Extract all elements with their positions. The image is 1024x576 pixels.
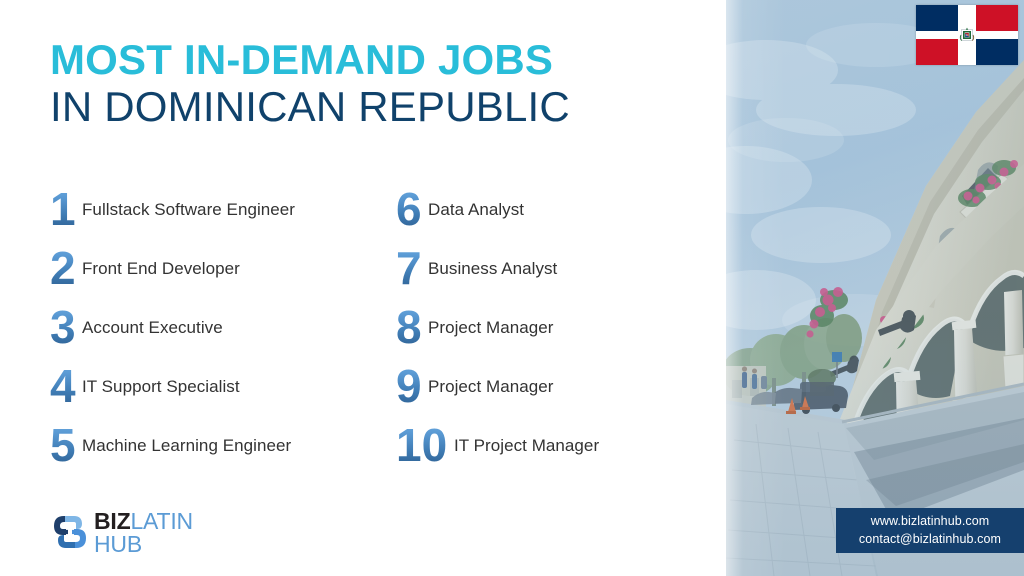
job-label: Data Analyst	[428, 200, 524, 220]
logo-wordmark: BIZLATIN HUB	[94, 510, 193, 557]
jobs-list-left: 1 Fullstack Software Engineer 2 Front En…	[50, 180, 380, 475]
job-label: Front End Developer	[82, 259, 240, 279]
list-item: 10 IT Project Manager	[396, 416, 726, 475]
job-label: Project Manager	[428, 318, 553, 338]
title-line-1: MOST IN-DEMAND JOBS	[50, 38, 690, 82]
rank-number: 9	[396, 363, 422, 409]
rank-number: 10	[396, 422, 448, 468]
logo-mark-icon	[50, 512, 90, 552]
list-item: 1 Fullstack Software Engineer	[50, 180, 380, 239]
list-item: 4 IT Support Specialist	[50, 357, 380, 416]
list-item: 8 Project Manager	[396, 298, 726, 357]
job-label: Business Analyst	[428, 259, 557, 279]
logo-row-top: BIZLATIN	[94, 510, 193, 533]
job-label: Fullstack Software Engineer	[82, 200, 295, 220]
page-title: MOST IN-DEMAND JOBS IN DOMINICAN REPUBLI…	[50, 38, 690, 132]
rank-number: 8	[396, 304, 422, 350]
rank-number: 7	[396, 245, 422, 291]
job-label: Machine Learning Engineer	[82, 436, 291, 456]
list-item: 5 Machine Learning Engineer	[50, 416, 380, 475]
job-label: IT Support Specialist	[82, 377, 240, 397]
contact-website[interactable]: www.bizlatinhub.com	[871, 513, 990, 530]
list-item: 6 Data Analyst	[396, 180, 726, 239]
logo-latin: LATIN	[130, 508, 192, 534]
colonial-street-arcade-photo	[726, 0, 1024, 576]
list-item: 2 Front End Developer	[50, 239, 380, 298]
rank-number: 1	[50, 186, 76, 232]
job-label: IT Project Manager	[454, 436, 599, 456]
list-item: 9 Project Manager	[396, 357, 726, 416]
rank-number: 3	[50, 304, 76, 350]
contact-email[interactable]: contact@bizlatinhub.com	[859, 531, 1001, 548]
job-label: Project Manager	[428, 377, 553, 397]
logo-row-bottom: HUB	[94, 533, 193, 556]
flag-svg	[916, 5, 1018, 65]
list-item: 3 Account Executive	[50, 298, 380, 357]
rank-number: 2	[50, 245, 76, 291]
bizlatinhub-logo: BIZLATIN HUB	[50, 508, 250, 556]
list-item: 7 Business Analyst	[396, 239, 726, 298]
dominican-republic-flag	[916, 5, 1018, 65]
rank-number: 6	[396, 186, 422, 232]
rank-number: 4	[50, 363, 76, 409]
title-line-2: IN DOMINICAN REPUBLIC	[50, 82, 690, 132]
photo-illustration	[726, 0, 1024, 576]
jobs-list-right: 6 Data Analyst 7 Business Analyst 8 Proj…	[396, 180, 726, 475]
job-label: Account Executive	[82, 318, 223, 338]
logo-hub: HUB	[94, 531, 142, 557]
contact-box: www.bizlatinhub.com contact@bizlatinhub.…	[836, 508, 1024, 553]
logo-biz: BIZ	[94, 508, 130, 534]
rank-number: 5	[50, 422, 76, 468]
